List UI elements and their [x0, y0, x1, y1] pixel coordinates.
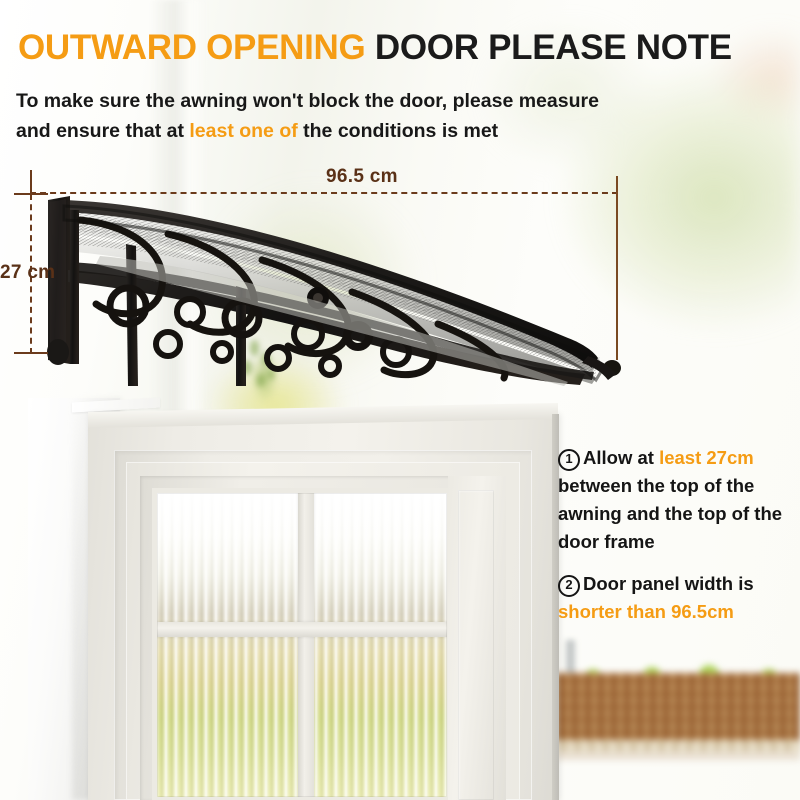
condition-2-text-a: Door panel width is: [583, 573, 754, 594]
condition-marker-2: 2: [558, 575, 580, 597]
condition-1-highlight: least 27cm: [659, 447, 754, 468]
dimension-tick-left: [30, 170, 32, 194]
page-title-rest: DOOR PLEASE NOTE: [375, 28, 732, 67]
page-title-highlight: OUTWARD OPENING: [18, 28, 365, 67]
subtitle-line-2-b: the conditions is met: [298, 120, 498, 142]
dimension-label-width: 96.5 cm: [326, 166, 398, 188]
hedge-ground: [556, 752, 800, 760]
page-title: OUTWARD OPENING DOOR PLEASE NOTE: [18, 28, 732, 68]
door-stile-right: [448, 476, 506, 800]
subtitle-line-2: and ensure that at least one of the cond…: [16, 116, 756, 146]
condition-2-highlight: shorter than 96.5cm: [558, 601, 734, 622]
subtitle-line-2-a: and ensure that at: [16, 120, 189, 142]
page-subtitle: To make sure the awning won't block the …: [16, 86, 756, 146]
awning-strut-wall: [70, 210, 79, 364]
glass-mullion-vertical: [298, 492, 314, 798]
door-assembly: [28, 398, 558, 800]
dimension-tick-bottom: [14, 352, 48, 354]
dimension-label-height: 27 cm: [0, 262, 55, 284]
conditions-list: 1Allow at least 27cm between the top of …: [558, 444, 796, 640]
dimension-tick-right: [616, 176, 618, 360]
condition-1-text-a: Allow at: [583, 447, 659, 468]
door-canopy-awning: [40, 186, 640, 386]
infographic-canvas: 96.5 cm 27 cm OUTWARD OPENING DOOR PLEAS…: [0, 0, 800, 800]
condition-item-1: 1Allow at least 27cm between the top of …: [558, 444, 796, 556]
condition-1-text-b: between the top of the awning and the to…: [558, 475, 782, 552]
dimension-line-width: [30, 192, 618, 194]
condition-item-2: 2Door panel width is shorter than 96.5cm: [558, 570, 796, 626]
subtitle-line-2-highlight: least one of: [189, 120, 297, 142]
hedge-lattice: [556, 673, 800, 749]
condition-marker-1: 1: [558, 449, 580, 471]
background-hedge-fence: [556, 655, 800, 760]
glass-mullion-horizontal: [156, 622, 448, 637]
dimension-tick-top: [14, 193, 48, 195]
awning-wall-bracket-foot: [47, 339, 69, 365]
subtitle-line-1: To make sure the awning won't block the …: [16, 86, 756, 116]
